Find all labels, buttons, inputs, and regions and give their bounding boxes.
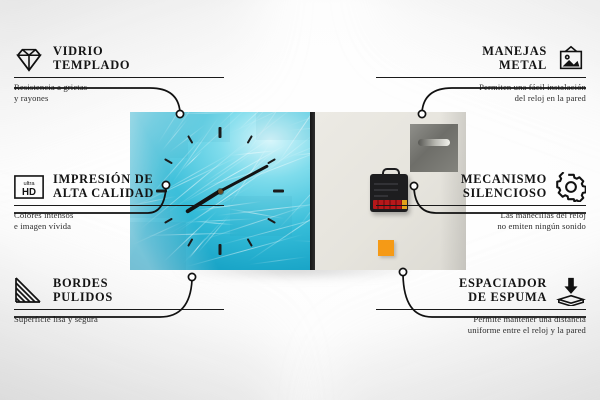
feature-description: Las manecillas del reloj no emiten ningú… <box>376 206 586 232</box>
feature-header: ESPACIADOR DE ESPUMA <box>376 276 586 309</box>
polished-edges-icon <box>14 276 44 306</box>
picture-hanger-icon <box>556 44 586 74</box>
feature-title: ESPACIADOR DE ESPUMA <box>459 277 547 304</box>
feature-callout-manejas-metal[interactable]: MANEJAS METAL Permiten una fácil instala… <box>376 44 586 104</box>
feature-header: BORDES PULIDOS <box>14 276 224 309</box>
feature-header: MANEJAS METAL <box>376 44 586 77</box>
infographic-canvas: VIDRIO TEMPLADO Resistencia a grietas y … <box>0 0 600 400</box>
clock-tick <box>247 135 253 144</box>
feature-title: IMPRESIÓN DE ALTA CALIDAD <box>53 173 154 200</box>
clock-minute-hand <box>219 164 268 192</box>
feature-description: Colores intensos e imagen vívida <box>14 206 224 232</box>
clock-tick <box>219 244 222 255</box>
clock-tick <box>187 238 193 247</box>
svg-text:HD: HD <box>22 187 36 198</box>
feature-title: BORDES PULIDOS <box>53 277 113 304</box>
feature-callout-mecanismo-silencioso[interactable]: MECANISMO SILENCIOSO Las manecillas del … <box>376 172 586 232</box>
diamond-icon <box>14 44 44 74</box>
metal-hanger-bracket <box>410 124 458 172</box>
feature-description: Permiten una fácil instalación del reloj… <box>376 78 586 104</box>
clock-tick <box>219 127 222 138</box>
feature-callout-vidrio-templado[interactable]: VIDRIO TEMPLADO Resistencia a grietas y … <box>14 44 224 104</box>
feature-description: Resistencia a grietas y rayones <box>14 78 224 104</box>
feature-header: MECANISMO SILENCIOSO <box>376 172 586 205</box>
gear-icon <box>556 172 586 202</box>
clock-tick <box>273 190 284 193</box>
clock-tick <box>247 238 253 247</box>
feature-callout-impresion-alta-calidad[interactable]: ultra HD IMPRESIÓN DE ALTA CALIDAD Color… <box>14 172 224 232</box>
feature-title: MECANISMO SILENCIOSO <box>461 173 547 200</box>
feature-description: Permite mantener una distancia uniforme … <box>376 310 586 336</box>
foam-spacer-icon <box>556 276 586 306</box>
ultra-hd-icon: ultra HD <box>14 172 44 202</box>
clock-tick <box>187 135 193 144</box>
feature-callout-bordes-pulidos[interactable]: BORDES PULIDOS Superficie lisa y segura <box>14 276 224 325</box>
feature-title: VIDRIO TEMPLADO <box>53 45 130 72</box>
feature-description: Superficie lisa y segura <box>14 310 224 325</box>
feature-header: ultra HD IMPRESIÓN DE ALTA CALIDAD <box>14 172 224 205</box>
feature-callout-espaciador-espuma[interactable]: ESPACIADOR DE ESPUMA Permite mantener un… <box>376 276 586 336</box>
foam-spacer <box>378 240 394 256</box>
clock-tick <box>164 158 173 164</box>
clock-tick <box>267 218 276 224</box>
clock-tick <box>267 158 276 164</box>
feature-header: VIDRIO TEMPLADO <box>14 44 224 77</box>
feature-title: MANEJAS METAL <box>482 45 547 72</box>
hanger-slot <box>418 139 450 146</box>
